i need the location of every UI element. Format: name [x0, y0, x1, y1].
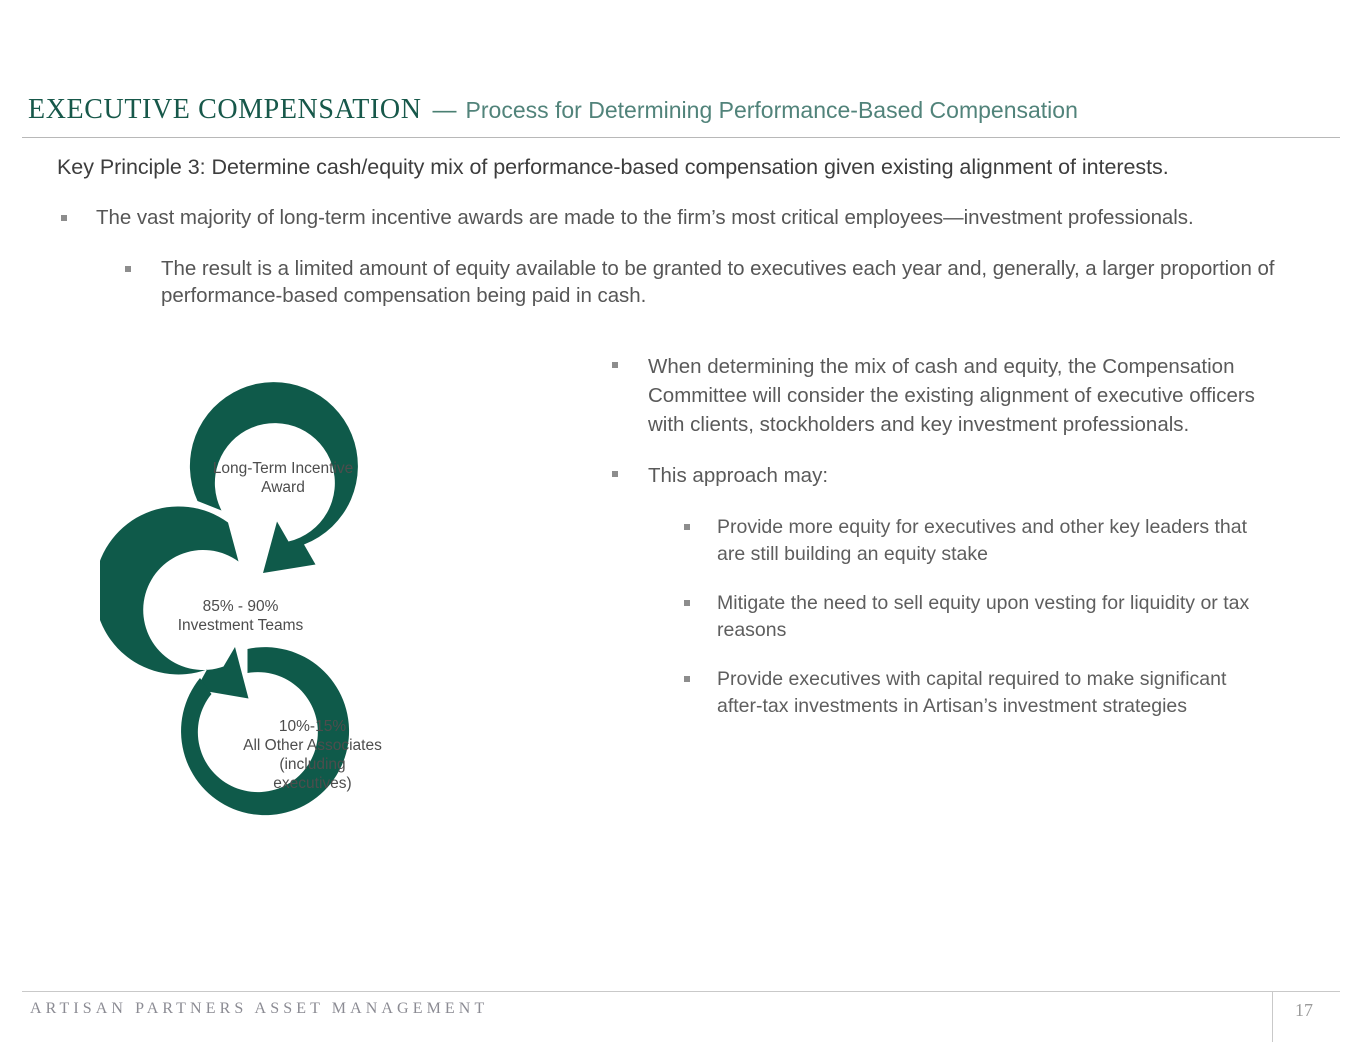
- right-sub-bullet-3-text: Provide executives with capital required…: [717, 666, 1272, 720]
- header-divider: [22, 137, 1340, 138]
- right-bullet-1: When determining the mix of cash and equ…: [612, 352, 1272, 439]
- slide-page: EXECUTIVE COMPENSATION — Process for Det…: [0, 0, 1365, 1055]
- square-bullet-icon: [612, 362, 618, 368]
- right-sub-bullet-1-text: Provide more equity for executives and o…: [717, 514, 1272, 568]
- page-title: EXECUTIVE COMPENSATION: [28, 96, 422, 124]
- square-bullet-icon: [684, 600, 690, 606]
- bullet-level1: The vast majority of long-term incentive…: [61, 204, 1331, 231]
- header-dash: —: [433, 99, 457, 123]
- page-subtitle: Process for Determining Performance-Base…: [466, 99, 1078, 122]
- square-bullet-icon: [684, 524, 690, 530]
- bullet-level2: The result is a limited amount of equity…: [125, 255, 1335, 310]
- diagram-label-middle: 85% - 90% Investment Teams: [138, 598, 343, 636]
- right-column: When determining the mix of cash and equ…: [612, 352, 1272, 742]
- footer-company-name: ARTISAN PARTNERS ASSET MANAGEMENT: [30, 1000, 488, 1018]
- page-number: 17: [1284, 1000, 1324, 1021]
- cycle-diagram: Long-Term Incentive Award 85% - 90% Inve…: [100, 368, 420, 858]
- diagram-label-top: Long-Term Incentive Award: [188, 460, 378, 498]
- bullet-level1-text: The vast majority of long-term incentive…: [96, 204, 1194, 231]
- right-bullet-2-text: This approach may:: [648, 461, 828, 490]
- bullet-level2-text: The result is a limited amount of equity…: [161, 255, 1335, 310]
- square-bullet-icon: [125, 266, 131, 272]
- square-bullet-icon: [684, 676, 690, 682]
- footer-vertical-divider: [1272, 992, 1273, 1042]
- square-bullet-icon: [612, 471, 618, 477]
- slide-header: EXECUTIVE COMPENSATION — Process for Det…: [28, 96, 1338, 134]
- footer-divider-line: [22, 991, 1340, 992]
- right-bullet-1-text: When determining the mix of cash and equ…: [648, 352, 1272, 439]
- right-bullet-2: This approach may:: [612, 461, 1272, 490]
- right-sub-bullet-1: Provide more equity for executives and o…: [684, 514, 1272, 568]
- key-principle-heading: Key Principle 3: Determine cash/equity m…: [57, 153, 1327, 181]
- square-bullet-icon: [61, 215, 67, 221]
- right-sub-bullet-3: Provide executives with capital required…: [684, 666, 1272, 720]
- right-sub-bullet-2: Mitigate the need to sell equity upon ve…: [684, 590, 1272, 644]
- right-sub-bullet-2-text: Mitigate the need to sell equity upon ve…: [717, 590, 1272, 644]
- diagram-label-bottom: 10%-15% All Other Associates (including …: [230, 718, 395, 794]
